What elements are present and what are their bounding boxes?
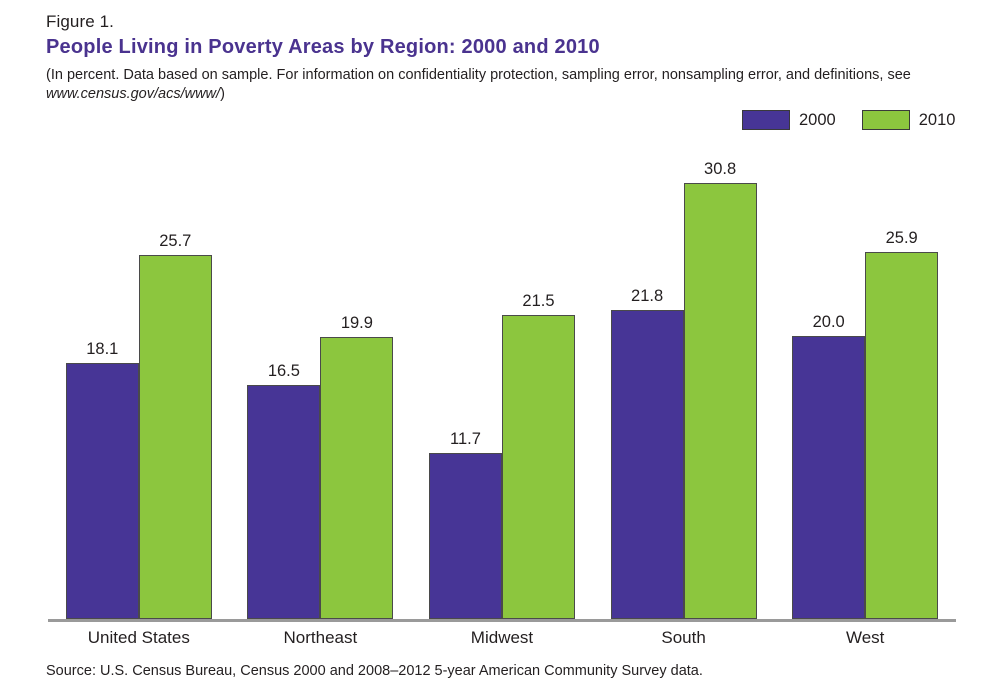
x-axis-label-west: West [774,628,956,648]
legend-item-2010: 2010 [862,110,956,130]
bar-group: 18.125.7 [48,150,230,619]
bar-rect[interactable] [320,337,393,619]
bar-rect[interactable] [611,310,684,619]
x-axis-label-northeast: Northeast [230,628,412,648]
bar-2010-united-states[interactable]: 25.7 [139,150,212,619]
figure-number: Figure 1. [46,12,114,32]
bar-rect[interactable] [66,363,139,619]
bar-rect[interactable] [247,385,320,619]
x-axis-category-labels: United StatesNortheastMidwestSouthWest [48,628,956,648]
bar-group: 11.721.5 [411,150,593,619]
bar-group: 21.830.8 [593,150,775,619]
x-axis-label-midwest: Midwest [411,628,593,648]
source-note: Source: U.S. Census Bureau, Census 2000 … [46,663,703,679]
bar-value-label: 30.8 [684,160,757,179]
bar-2000-midwest[interactable]: 11.7 [429,150,502,619]
bar-value-label: 16.5 [247,362,320,381]
bar-group: 16.519.9 [230,150,412,619]
x-axis-label-united-states: United States [48,628,230,648]
bar-value-label: 18.1 [66,340,139,359]
legend-swatch-2010 [862,110,910,130]
bar-rect[interactable] [429,453,502,619]
bar-value-label: 21.8 [611,287,684,306]
bar-groups: 18.125.716.519.911.721.521.830.820.025.9 [48,150,956,619]
bar-2000-south[interactable]: 21.8 [611,150,684,619]
subtitle-close: ) [220,86,225,102]
page-title: People Living in Poverty Areas by Region… [46,36,600,59]
bar-rect[interactable] [684,183,757,619]
bar-2010-midwest[interactable]: 21.5 [502,150,575,619]
bar-2010-south[interactable]: 30.8 [684,150,757,619]
bar-2010-northeast[interactable]: 19.9 [320,150,393,619]
bar-2010-west[interactable]: 25.9 [865,150,938,619]
bar-2000-west[interactable]: 20.0 [792,150,865,619]
bar-value-label: 19.9 [320,314,393,333]
bar-value-label: 25.9 [865,229,938,248]
legend-label-2010: 2010 [919,111,956,130]
plot-area: 18.125.716.519.911.721.521.830.820.025.9 [48,150,956,622]
bar-2000-united-states[interactable]: 18.1 [66,150,139,619]
subtitle-url: www.census.gov/acs/www/ [46,86,220,102]
bar-2000-northeast[interactable]: 16.5 [247,150,320,619]
legend-item-2000: 2000 [742,110,836,130]
bar-rect[interactable] [792,336,865,619]
bar-rect[interactable] [865,252,938,619]
subtitle-text: (In percent. Data based on sample. For i… [46,67,911,83]
bar-value-label: 20.0 [792,313,865,332]
bar-rect[interactable] [139,255,212,619]
figure-page: Figure 1. People Living in Poverty Areas… [0,0,1002,700]
chart-subtitle: (In percent. Data based on sample. For i… [46,66,936,104]
chart-legend: 2000 2010 [742,110,955,130]
bar-rect[interactable] [502,315,575,619]
legend-label-2000: 2000 [799,111,836,130]
bar-value-label: 25.7 [139,232,212,251]
bar-value-label: 21.5 [502,292,575,311]
x-axis-line [48,619,956,622]
legend-swatch-2000 [742,110,790,130]
x-axis-label-south: South [593,628,775,648]
bar-group: 20.025.9 [774,150,956,619]
bar-value-label: 11.7 [429,430,502,449]
